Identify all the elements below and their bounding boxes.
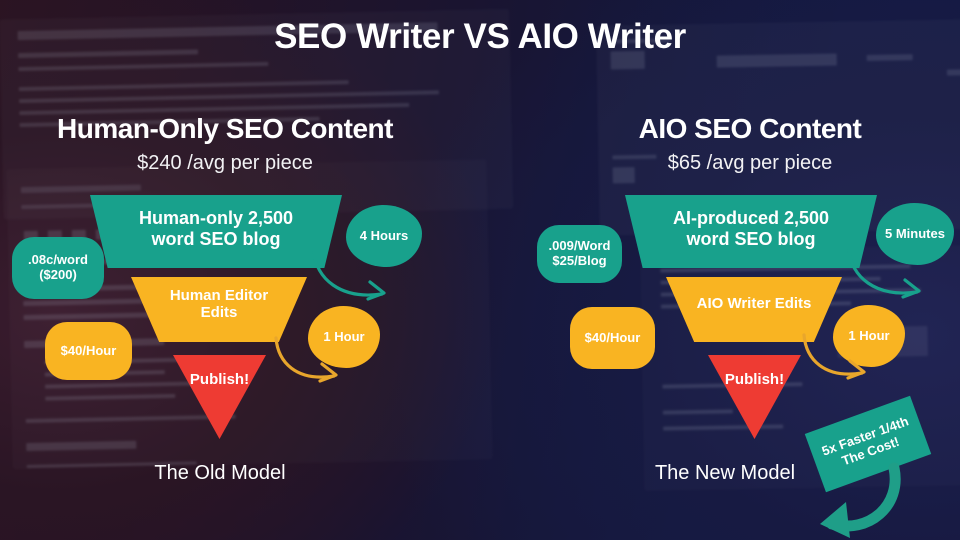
- left-column-subheading: $240 /avg per piece: [0, 152, 450, 175]
- left-rate-note: $40/Hour: [45, 322, 132, 380]
- left-model-caption: The Old Model: [0, 462, 440, 485]
- right-rate-note: $40/Hour: [570, 307, 655, 369]
- right-cost-note: .009/Word $25/Blog: [537, 225, 622, 283]
- right-funnel-stage-top: AI-produced 2,500 word SEO blog: [625, 195, 877, 268]
- right-time-top-blob: 5 Minutes: [876, 203, 954, 265]
- left-funnel-stage-middle: Human Editor Edits: [131, 277, 307, 342]
- right-column-heading: AIO SEO Content: [540, 113, 960, 145]
- left-time-mid-blob: 1 Hour: [308, 306, 380, 368]
- left-column-heading: Human-Only SEO Content: [0, 113, 450, 145]
- infographic-canvas: SEO Writer VS AIO Writer Human-Only SEO …: [0, 0, 960, 540]
- left-funnel-stage-top: Human-only 2,500 word SEO blog: [90, 195, 342, 268]
- main-title: SEO Writer VS AIO Writer: [0, 17, 960, 57]
- right-column-subheading: $65 /avg per piece: [540, 152, 960, 175]
- left-time-top-blob: 4 Hours: [346, 205, 422, 267]
- right-time-mid-blob: 1 Hour: [833, 305, 905, 367]
- right-model-caption: The New Model: [600, 462, 850, 485]
- left-cost-note: .08c/word ($200): [12, 237, 104, 299]
- right-funnel-stage-middle: AIO Writer Edits: [666, 277, 842, 342]
